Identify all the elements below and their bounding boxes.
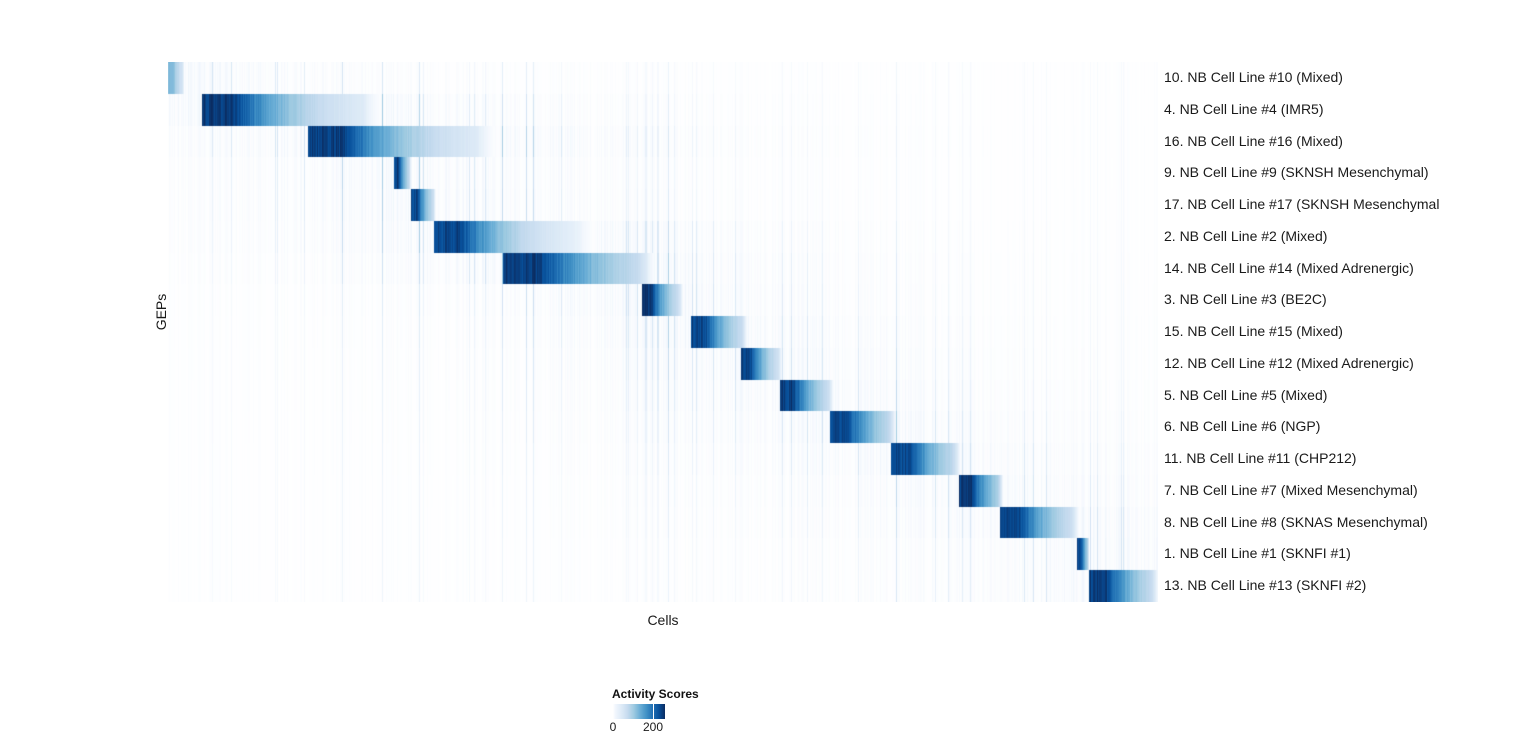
row-label: 14. NB Cell Line #14 (Mixed Adrenergic) bbox=[1164, 253, 1414, 285]
row-label: 6. NB Cell Line #6 (NGP) bbox=[1164, 411, 1320, 443]
row-label: 7. NB Cell Line #7 (Mixed Mesenchymal) bbox=[1164, 475, 1418, 507]
row-label: 12. NB Cell Line #12 (Mixed Adrenergic) bbox=[1164, 348, 1414, 380]
row-label: 15. NB Cell Line #15 (Mixed) bbox=[1164, 316, 1343, 348]
row-label: 2. NB Cell Line #2 (Mixed) bbox=[1164, 221, 1327, 253]
heatmap-plot[interactable] bbox=[168, 62, 1158, 602]
row-label: 1. NB Cell Line #1 (SKNFI #1) bbox=[1164, 538, 1351, 570]
row-label: 11. NB Cell Line #11 (CHP212) bbox=[1164, 443, 1356, 475]
row-label: 10. NB Cell Line #10 (Mixed) bbox=[1164, 62, 1343, 94]
row-label: 3. NB Cell Line #3 (BE2C) bbox=[1164, 284, 1327, 316]
x-axis-title: Cells bbox=[168, 612, 1158, 628]
heatmap-canvas[interactable] bbox=[168, 62, 1158, 602]
colorbar-tick bbox=[653, 704, 654, 719]
row-label: 13. NB Cell Line #13 (SKNFI #2) bbox=[1164, 570, 1366, 602]
row-label: 16. NB Cell Line #16 (Mixed) bbox=[1164, 126, 1343, 158]
colorbar-tick-label: 200 bbox=[633, 720, 673, 734]
colorbar-tick-label: 0 bbox=[593, 720, 633, 734]
row-label-list: 10. NB Cell Line #10 (Mixed)4. NB Cell L… bbox=[1164, 62, 1534, 602]
row-label: 17. NB Cell Line #17 (SKNSH Mesenchymal bbox=[1164, 189, 1439, 221]
heatmap-figure: GEPs Cells 10. NB Cell Line #10 (Mixed)4… bbox=[0, 0, 1540, 743]
row-label: 9. NB Cell Line #9 (SKNSH Mesenchymal) bbox=[1164, 157, 1429, 189]
colorbar-title: Activity Scores bbox=[612, 687, 699, 701]
row-label: 4. NB Cell Line #4 (IMR5) bbox=[1164, 94, 1324, 126]
row-label: 5. NB Cell Line #5 (Mixed) bbox=[1164, 380, 1327, 412]
colorbar-legend: Activity Scores 0200 bbox=[612, 687, 852, 743]
row-label: 8. NB Cell Line #8 (SKNAS Mesenchymal) bbox=[1164, 507, 1428, 539]
colorbar-gradient bbox=[613, 704, 665, 719]
